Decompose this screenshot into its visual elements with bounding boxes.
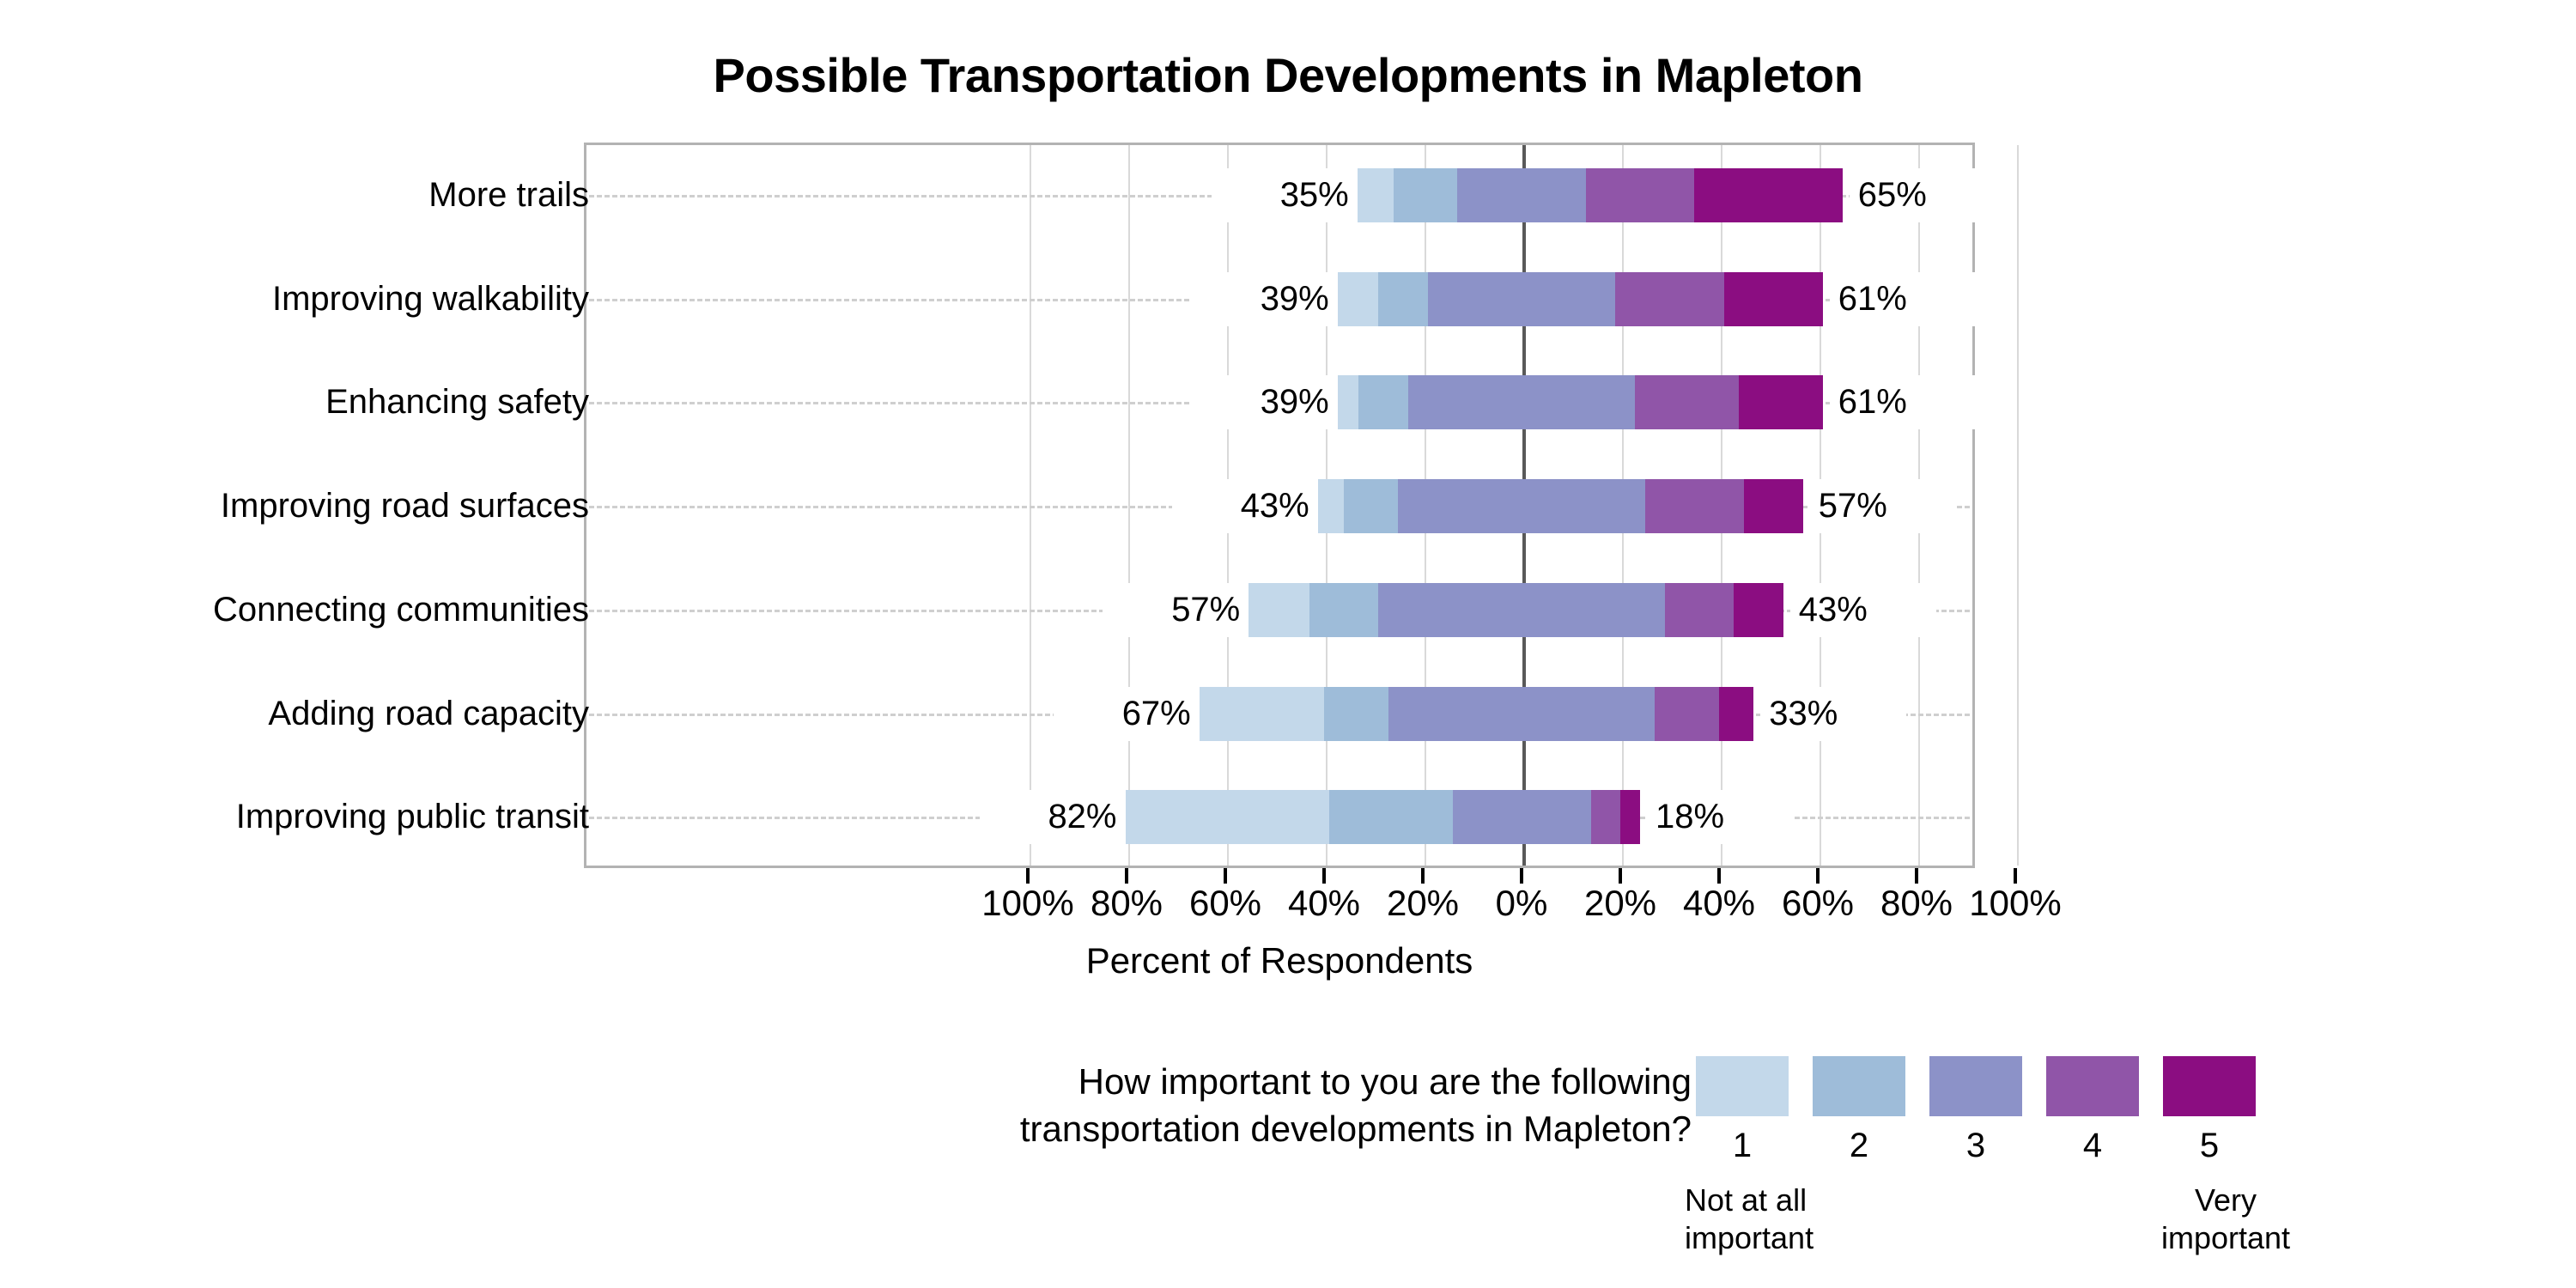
bar-segment-5 xyxy=(1724,272,1823,326)
right-total-label: 65% xyxy=(1850,168,1996,222)
x-tick xyxy=(1520,868,1523,884)
legend-question-line-1: How important to you are the following xyxy=(635,1058,1692,1105)
bar-segment-3 xyxy=(1388,687,1656,741)
stacked-bar xyxy=(1309,479,1803,533)
x-tick xyxy=(1322,868,1326,884)
legend-item-4[interactable]: 4 xyxy=(2046,1056,2139,1166)
legend-swatch-5 xyxy=(2163,1056,2256,1116)
right-total-label: 61% xyxy=(1830,375,1976,429)
table-row: Connecting communities57%43% xyxy=(0,583,2576,637)
bar-segment-3 xyxy=(1408,375,1636,429)
bar-segment-5 xyxy=(1744,479,1803,533)
x-tick xyxy=(1915,868,1918,884)
bar-segment-5 xyxy=(1734,583,1783,637)
legend-swatch-3 xyxy=(1929,1056,2022,1116)
category-label: Connecting communities xyxy=(0,583,589,637)
bar-segment-3 xyxy=(1378,583,1665,637)
bar-segment-2 xyxy=(1358,375,1408,429)
legend-anchor-low-line-2: important xyxy=(1685,1219,1891,1257)
right-total-label: 61% xyxy=(1830,272,1976,326)
legend-label-5: 5 xyxy=(2163,1125,2256,1166)
bar-segment-5 xyxy=(1719,687,1753,741)
stacked-bar xyxy=(1191,687,1754,741)
bar-segment-2 xyxy=(1394,168,1458,222)
legend-label-2: 2 xyxy=(1813,1125,1905,1166)
legend-question: How important to you are the following t… xyxy=(635,1058,1692,1152)
legend-swatch-1 xyxy=(1696,1056,1789,1116)
category-label: Improving road surfaces xyxy=(0,479,589,533)
bar-segment-2 xyxy=(1324,687,1388,741)
bar-segment-2 xyxy=(1329,790,1453,844)
bar-segment-4 xyxy=(1586,168,1695,222)
bar-segment-4 xyxy=(1635,375,1739,429)
x-tick xyxy=(1421,868,1425,884)
legend-question-line-2: transportation developments in Mapleton? xyxy=(635,1105,1692,1152)
bar-segment-5 xyxy=(1739,375,1823,429)
x-tick xyxy=(1717,868,1721,884)
category-label: More trails xyxy=(0,168,589,222)
stacked-bar xyxy=(1240,583,1783,637)
legend-swatch-4 xyxy=(2046,1056,2139,1116)
bar-segment-2 xyxy=(1378,272,1428,326)
bar-segment-1 xyxy=(1240,583,1309,637)
category-label: Enhancing safety xyxy=(0,375,589,429)
bar-segment-3 xyxy=(1398,479,1645,533)
stacked-bar xyxy=(1349,168,1843,222)
stacked-bar xyxy=(1117,790,1641,844)
bar-segment-1 xyxy=(1117,790,1329,844)
bar-segment-4 xyxy=(1615,272,1724,326)
bar-segment-4 xyxy=(1591,790,1621,844)
legend-swatch-2 xyxy=(1813,1056,1905,1116)
x-tick-label: 100% xyxy=(1929,883,2101,924)
category-label: Improving walkability xyxy=(0,272,589,326)
bar-segment-4 xyxy=(1665,583,1735,637)
bar-segment-3 xyxy=(1428,272,1616,326)
x-tick xyxy=(1125,868,1128,884)
legend-label-3: 3 xyxy=(1929,1125,2022,1166)
bar-segment-2 xyxy=(1344,479,1398,533)
x-tick xyxy=(2014,868,2017,884)
legend-item-1[interactable]: 1 xyxy=(1696,1056,1789,1166)
legend-anchor-low: Not at all important xyxy=(1685,1182,1891,1257)
table-row: Adding road capacity67%33% xyxy=(0,687,2576,741)
table-row: Enhancing safety39%61% xyxy=(0,375,2576,429)
table-row: More trails35%65% xyxy=(0,168,2576,222)
table-row: Improving walkability39%61% xyxy=(0,272,2576,326)
stacked-bar xyxy=(1329,375,1823,429)
right-total-label: 33% xyxy=(1760,687,1906,741)
left-total-label: 57% xyxy=(1103,583,1249,637)
right-total-label: 57% xyxy=(1810,479,1956,533)
legend-label-4: 4 xyxy=(2046,1125,2139,1166)
left-total-label: 67% xyxy=(1054,687,1200,741)
legend-item-3[interactable]: 3 xyxy=(1929,1056,2022,1166)
chart-root: Possible Transportation Developments in … xyxy=(0,0,2576,1288)
left-total-label: 43% xyxy=(1172,479,1318,533)
stacked-bar xyxy=(1329,272,1823,326)
x-tick xyxy=(1619,868,1622,884)
table-row: Improving public transit82%18% xyxy=(0,790,2576,844)
x-tick xyxy=(1816,868,1820,884)
table-row: Improving road surfaces43%57% xyxy=(0,479,2576,533)
right-total-label: 43% xyxy=(1790,583,1936,637)
bar-segment-5 xyxy=(1620,790,1640,844)
bar-segment-3 xyxy=(1453,790,1591,844)
left-total-label: 82% xyxy=(980,790,1126,844)
x-tick xyxy=(1026,868,1030,884)
left-total-label: 39% xyxy=(1192,375,1338,429)
legend-label-1: 1 xyxy=(1696,1125,1789,1166)
left-total-label: 35% xyxy=(1212,168,1358,222)
x-tick xyxy=(1224,868,1227,884)
category-label: Improving public transit xyxy=(0,790,589,844)
bar-segment-1 xyxy=(1191,687,1324,741)
left-total-label: 39% xyxy=(1192,272,1338,326)
bar-segment-5 xyxy=(1694,168,1843,222)
legend-item-5[interactable]: 5 xyxy=(2163,1056,2256,1166)
right-total-label: 18% xyxy=(1647,790,1793,844)
legend: How important to you are the following t… xyxy=(0,1056,2576,1288)
bar-segment-4 xyxy=(1645,479,1744,533)
bar-segment-2 xyxy=(1309,583,1379,637)
bar-segment-3 xyxy=(1457,168,1586,222)
legend-anchor-high: Very important xyxy=(2123,1182,2329,1257)
legend-anchor-high-line-2: important xyxy=(2123,1219,2329,1257)
legend-item-2[interactable]: 2 xyxy=(1813,1056,1905,1166)
x-axis-title: Percent of Respondents xyxy=(584,940,1975,981)
legend-anchor-low-line-1: Not at all xyxy=(1685,1182,1891,1219)
category-label: Adding road capacity xyxy=(0,687,589,741)
bar-segment-4 xyxy=(1655,687,1719,741)
legend-anchor-high-line-1: Very xyxy=(2123,1182,2329,1219)
